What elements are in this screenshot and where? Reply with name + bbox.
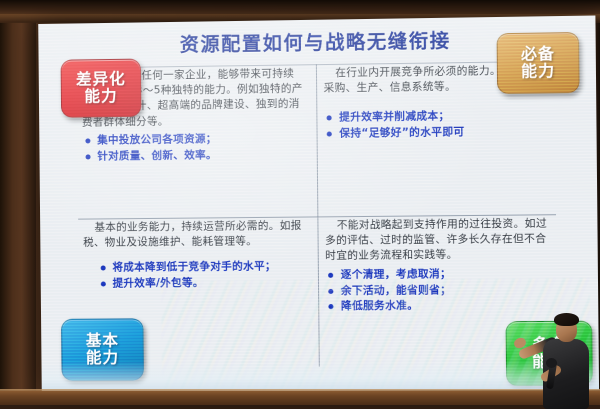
quadrant-paragraph: 基本的业务能力，持续运营所必需的。如报税、物业及设施维护、能耗管理等。 <box>83 219 306 252</box>
wooden-ledge <box>0 391 600 405</box>
badge-line-1: 差异化 <box>76 70 126 88</box>
badge-basic-capability: 基本 能力 <box>61 318 144 381</box>
quadrant-grid: 有别于任何一家企业，能够带来可持续竞争优势的3～5种独特的能力。例如独特的产品创… <box>77 61 558 368</box>
list-item: 提升效率/外包等。 <box>97 275 306 291</box>
list-item: 保持“足够好”的水平即可 <box>324 124 550 142</box>
badge-line-1: 基本 <box>86 332 119 350</box>
list-item: 集中投放公司各项资源； <box>82 131 305 149</box>
badge-differentiating-capability: 差异化 能力 <box>61 59 142 118</box>
list-item: 提升效率并削减成本； <box>324 108 550 126</box>
list-item: 针对质量、创新、效率。 <box>82 147 305 164</box>
list-item: 将成本降到低于竞争对手的水平； <box>97 259 306 276</box>
list-item: 逐个清理，考虑取消； <box>325 266 551 283</box>
quadrant-bullet-list: 集中投放公司各项资源； 针对质量、创新、效率。 <box>82 131 305 165</box>
badge-essential-capability: 必备 能力 <box>497 32 580 94</box>
badge-line-2: 能力 <box>521 63 555 81</box>
quadrant-bullet-list: 逐个清理，考虑取消； 余下活动，能省则省； 降低服务水准。 <box>325 266 552 315</box>
badge-line-2: 能力 <box>84 88 117 106</box>
badge-line-1: 必备 <box>521 45 555 63</box>
quadrant-bullet-list: 将成本降到低于竞争对手的水平； 提升效率/外包等。 <box>97 259 306 292</box>
quadrant-surplus: 不能对战略起到支持作用的过往投资。如过多的评估、过时的监管、许多长久存在但不合时… <box>325 216 552 315</box>
quadrant-bullet-list: 提升效率并削减成本； 保持“足够好”的水平即可 <box>324 108 551 142</box>
badge-line-2: 能力 <box>86 350 119 368</box>
projection-screen: 资源配置如何与战略无缝衔接 有别于任何一家企业，能够带来可持续竞争优势的3～5种… <box>38 15 599 392</box>
presentation-slide: 资源配置如何与战略无缝衔接 有别于任何一家企业，能够带来可持续竞争优势的3～5种… <box>38 15 599 392</box>
microphone-head-icon <box>546 358 557 368</box>
presenter-person <box>534 311 598 405</box>
list-item: 降低服务水准。 <box>326 298 552 315</box>
presenter-hair <box>554 313 579 326</box>
quadrant-basic: 基本的业务能力，持续运营所必需的。如报税、物业及设施维护、能耗管理等。 将成本降… <box>83 219 307 293</box>
conference-room-scene: 资源配置如何与战略无缝衔接 有别于任何一家企业，能够带来可持续竞争优势的3～5种… <box>0 0 600 405</box>
left-wall <box>0 0 36 405</box>
list-item: 余下活动，能省则省； <box>326 282 552 299</box>
quadrant-paragraph: 不能对战略起到支持作用的过往投资。如过多的评估、过时的监管、许多长久存在但不合时… <box>325 216 552 264</box>
